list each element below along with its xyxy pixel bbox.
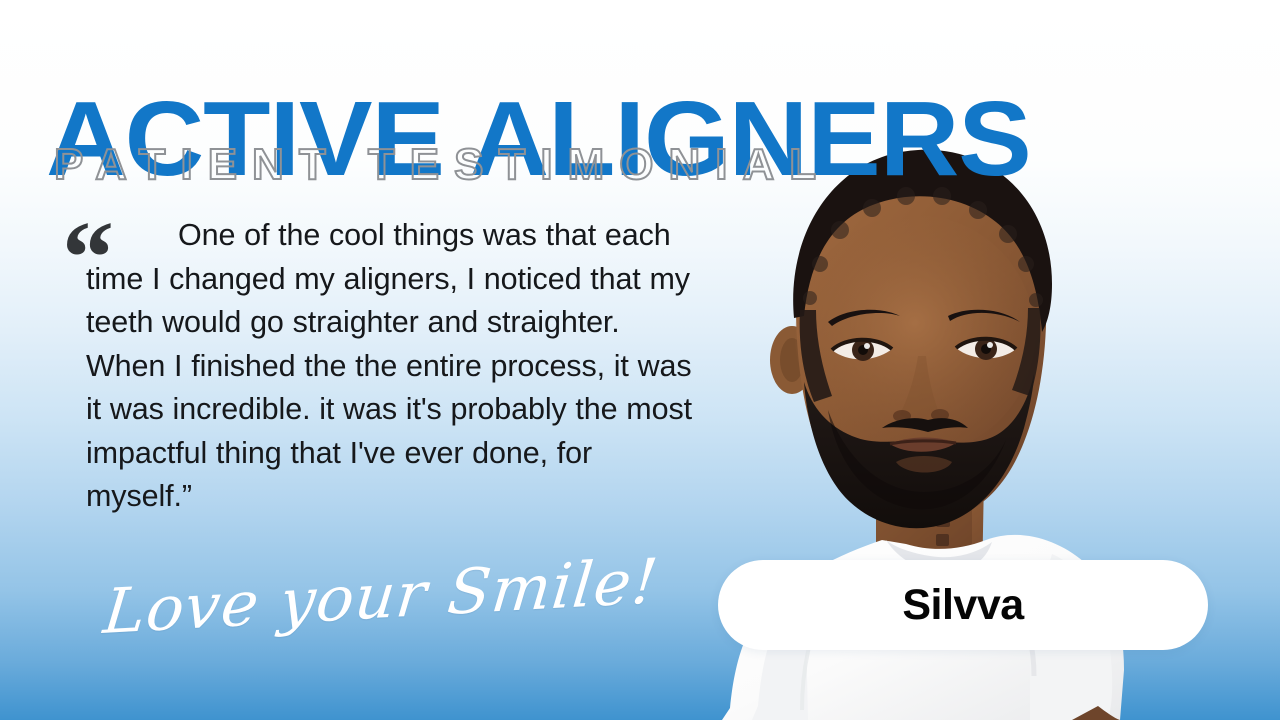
testimonial-quote-block: “ One of the cool things was that each t… — [62, 214, 702, 519]
testimonial-quote-text: One of the cool things was that each tim… — [62, 214, 702, 519]
patient-name-badge: Silvva — [718, 560, 1208, 650]
photo-head — [770, 150, 1052, 528]
page-subtitle: PATIENT TESTIMONIAL — [54, 140, 831, 190]
tagline-love-your-smile: Love your Smile! — [100, 541, 662, 652]
patient-name: Silvva — [902, 582, 1023, 628]
testimonial-graphic: ACTIVE ALIGNERS PATIENT TESTIMONIAL “ On… — [0, 0, 1280, 720]
quote-mark-icon: “ — [62, 206, 110, 310]
